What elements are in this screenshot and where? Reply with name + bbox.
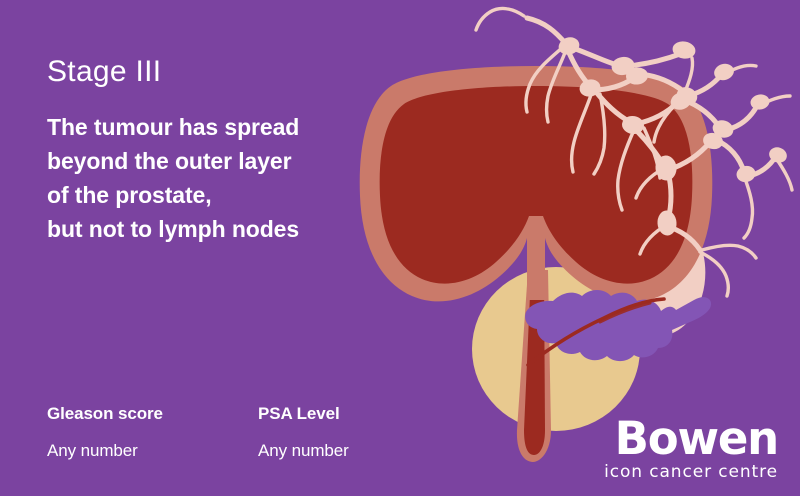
- stage-info-card: Stage III The tumour has spread beyond t…: [0, 0, 800, 496]
- description-line: beyond the outer layer: [47, 144, 377, 178]
- metric-label: Gleason score: [47, 404, 163, 424]
- description-line: The tumour has spread: [47, 110, 377, 144]
- description-text: The tumour has spread beyond the outer l…: [47, 110, 377, 246]
- page-title: Stage III: [47, 55, 161, 88]
- metric-value: Any number: [258, 441, 349, 461]
- description-line: of the prostate,: [47, 178, 377, 212]
- logo-subtitle: icon cancer centre: [604, 463, 778, 482]
- logo-wordmark: Bowen: [604, 417, 778, 461]
- metric-gleason-score: Gleason score Any number: [47, 404, 163, 461]
- brand-logo: Bowen icon cancer centre: [604, 417, 778, 482]
- description-line: but not to lymph nodes: [47, 212, 377, 246]
- metric-value: Any number: [47, 441, 163, 461]
- metric-psa-level: PSA Level Any number: [258, 404, 349, 461]
- metric-label: PSA Level: [258, 404, 349, 424]
